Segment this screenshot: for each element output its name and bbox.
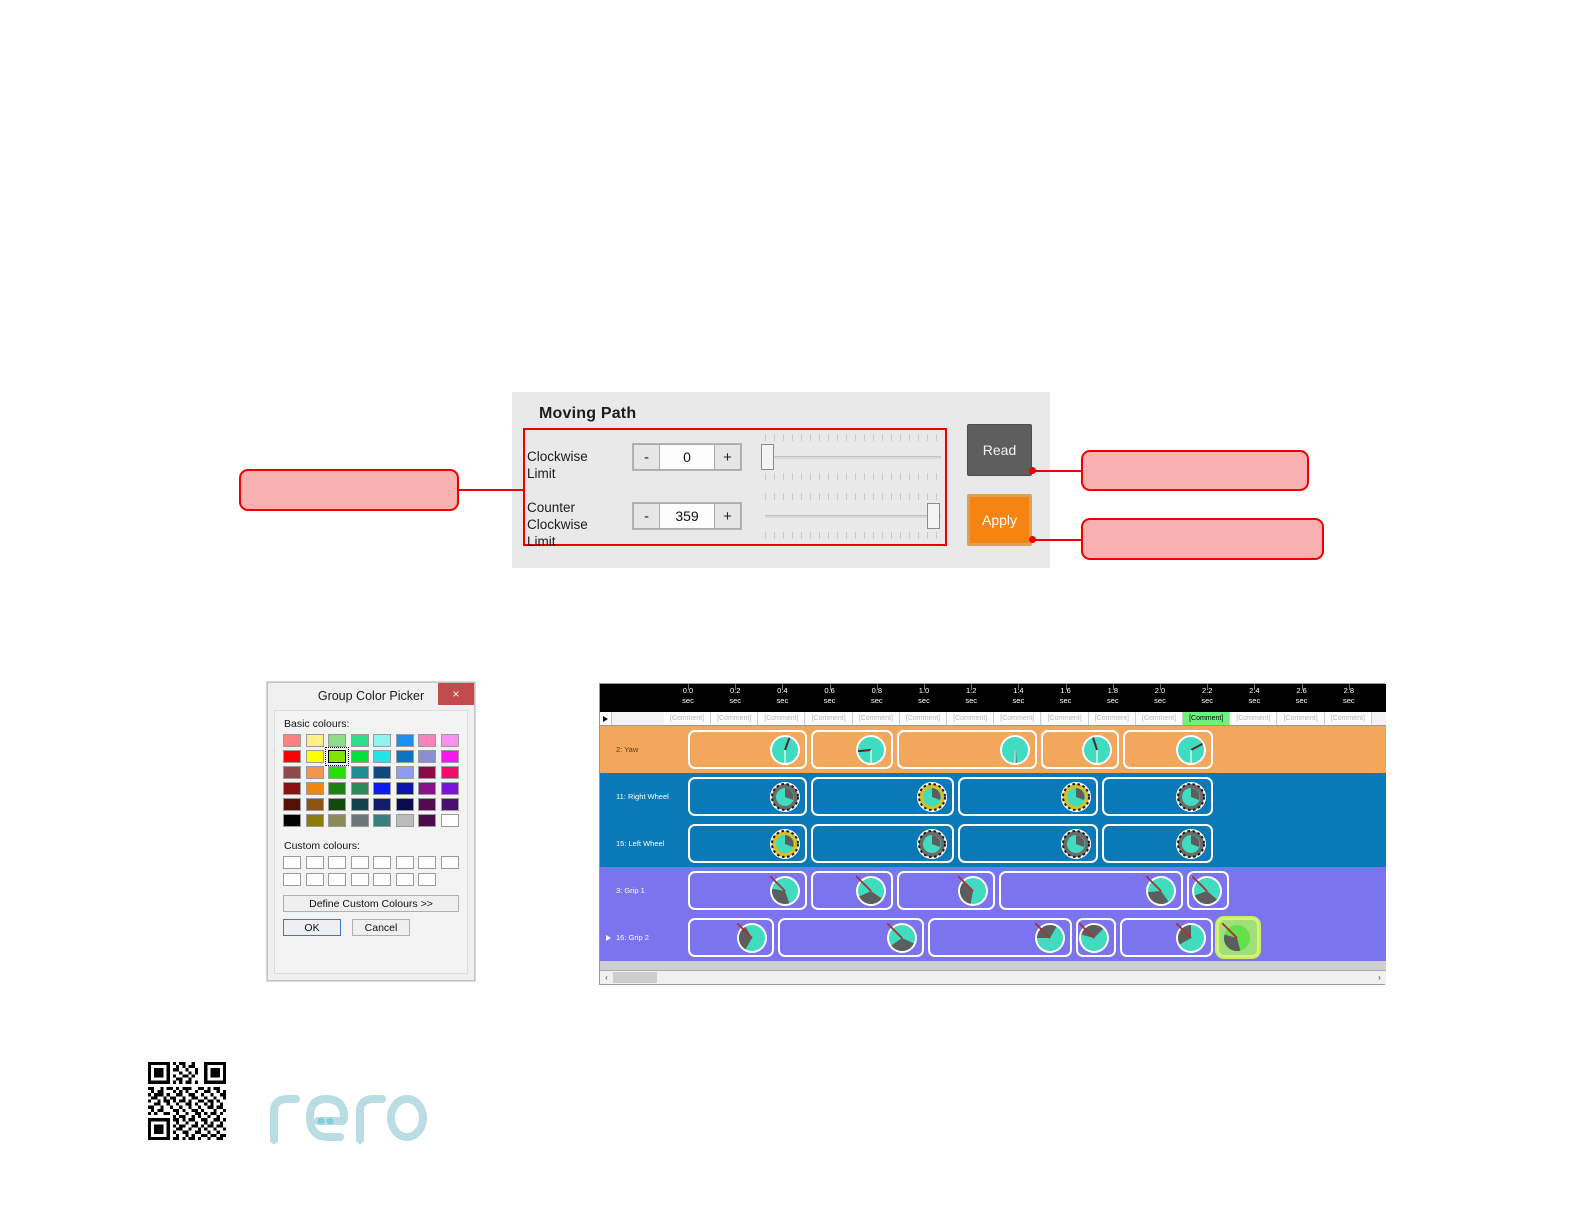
basic-colour-swatch[interactable]: [418, 782, 436, 795]
timeline-clip[interactable]: [778, 918, 924, 957]
timeline-clip[interactable]: [1102, 824, 1213, 863]
page-title: Moving Path: [539, 405, 636, 423]
comment-cell[interactable]: [Comment]: [806, 712, 853, 725]
basic-colour-swatch[interactable]: [283, 798, 301, 811]
tick-unit: sec: [806, 696, 854, 706]
ruler-tick-label: 0.6sec: [806, 686, 854, 706]
comment-cell[interactable]: [Comment]: [994, 712, 1041, 725]
basic-colour-swatch[interactable]: [283, 782, 301, 795]
tick-value: 0.0: [683, 686, 693, 695]
keyframe-dial-icon[interactable]: [1146, 876, 1176, 906]
keyframe-dial-icon[interactable]: [770, 829, 800, 859]
tick-value: 0.4: [777, 686, 787, 695]
timeline-clip[interactable]: [958, 777, 1098, 816]
comment-cell[interactable]: [Comment]: [947, 712, 994, 725]
basic-colour-swatch[interactable]: [351, 734, 369, 747]
ruler-tick-label: 0.2sec: [711, 686, 759, 706]
comment-cell[interactable]: [Comment]: [1183, 712, 1230, 725]
basic-colour-swatch[interactable]: [396, 782, 414, 795]
clockwise-limit-label: Clockwise Limit: [527, 448, 588, 482]
timeline-clip[interactable]: [897, 871, 995, 910]
custom-colour-swatch[interactable]: [418, 873, 436, 886]
callout-read-anchor: [1029, 467, 1036, 474]
ruler-tick-label: 0.0sec: [664, 686, 712, 706]
counter-clockwise-limit-increment-button[interactable]: +: [714, 503, 741, 529]
ruler-tick-label: 2.2sec: [1183, 686, 1231, 706]
counter-clockwise-limit-label-line1: Counter: [527, 499, 575, 516]
timeline-editor[interactable]: 0.0sec0.2sec0.4sec0.6sec0.8sec1.0sec1.2s…: [599, 683, 1385, 985]
tick-unit: sec: [711, 696, 759, 706]
timeline-clip[interactable]: [811, 777, 954, 816]
callout-apply-leader: [1032, 539, 1082, 541]
track-label[interactable]: 2: Yaw: [600, 726, 688, 773]
basic-colour-swatch[interactable]: [396, 750, 414, 763]
custom-colours-label: Custom colours:: [284, 840, 459, 852]
custom-colour-swatch[interactable]: [396, 873, 414, 886]
keyframe-dial-icon[interactable]: [1176, 735, 1206, 765]
track-lane[interactable]: [688, 867, 1386, 914]
timeline-clip[interactable]: [688, 777, 807, 816]
timeline-clip[interactable]: [688, 918, 774, 957]
tick-value: 1.0: [919, 686, 929, 695]
timeline-track[interactable]: 11: Right Wheel: [600, 773, 1386, 820]
keyframe-dial-icon[interactable]: [770, 876, 800, 906]
tick-unit: sec: [664, 696, 712, 706]
basic-colour-swatch[interactable]: [328, 814, 346, 827]
dialog-body: Basic colours: Custom colours: Define Cu…: [274, 710, 468, 974]
timeline-clip[interactable]: [688, 730, 807, 769]
basic-colour-swatch[interactable]: [373, 750, 391, 763]
keyframe-dial-icon[interactable]: [1176, 923, 1206, 953]
dialog-button-bar: OK Cancel: [283, 919, 459, 936]
tick-unit: sec: [1325, 696, 1373, 706]
track-label[interactable]: 11: Right Wheel: [600, 773, 688, 820]
timeline-clip[interactable]: [811, 871, 893, 910]
basic-colour-swatch[interactable]: [373, 766, 391, 779]
tick-value: 2.0: [1155, 686, 1165, 695]
basic-colours-label: Basic colours:: [284, 718, 459, 730]
custom-colour-swatch[interactable]: [396, 856, 414, 869]
timeline-clip[interactable]: [1187, 871, 1229, 910]
timeline-track[interactable]: 2: Yaw: [600, 726, 1386, 773]
basic-colour-swatch[interactable]: [283, 766, 301, 779]
tick-unit: sec: [1183, 696, 1231, 706]
basic-colour-swatch[interactable]: [328, 750, 346, 763]
dialog-title: Group Color Picker: [318, 689, 424, 703]
counter-clockwise-limit-decrement-button[interactable]: -: [633, 503, 660, 529]
tick-unit: sec: [947, 696, 995, 706]
timeline-track[interactable]: 16: Grip 2: [600, 914, 1386, 961]
basic-colour-swatch[interactable]: [418, 766, 436, 779]
timeline-clip[interactable]: [1076, 918, 1116, 957]
custom-colour-swatch[interactable]: [306, 873, 324, 886]
slider-ticks-bottom: [765, 532, 941, 539]
basic-colour-swatch[interactable]: [306, 766, 324, 779]
basic-colours-grid[interactable]: [283, 734, 459, 827]
slider-ticks-top: [765, 493, 941, 500]
comment-cell[interactable]: [Comment]: [900, 712, 947, 725]
slider-track: [765, 515, 941, 518]
custom-colour-swatch[interactable]: [373, 856, 391, 869]
basic-colour-swatch[interactable]: [351, 782, 369, 795]
slider-ticks-top: [765, 434, 941, 441]
basic-colour-swatch[interactable]: [328, 782, 346, 795]
tick-unit: sec: [1278, 696, 1326, 706]
keyframe-dial-icon[interactable]: [1061, 829, 1091, 859]
track-label[interactable]: 15: Left Wheel: [600, 820, 688, 867]
timeline-tracks-area[interactable]: 2: Yaw11: Right Wheel15: Left Wheel3: Gr…: [600, 726, 1386, 971]
basic-colour-swatch[interactable]: [351, 798, 369, 811]
tick-unit: sec: [1230, 696, 1278, 706]
timeline-horizontal-scrollbar[interactable]: ‹ ›: [600, 970, 1386, 984]
ruler-tick-label: 2.6sec: [1278, 686, 1326, 706]
basic-colour-swatch[interactable]: [441, 814, 459, 827]
qr-code: [148, 1062, 226, 1140]
counter-clockwise-limit-label-line2: Clockwise Limit: [527, 516, 588, 550]
custom-colour-swatch[interactable]: [418, 856, 436, 869]
tick-value: 1.4: [1013, 686, 1023, 695]
ruler-tick-label: 0.4sec: [758, 686, 806, 706]
tick-unit: sec: [853, 696, 901, 706]
custom-colour-swatch[interactable]: [283, 856, 301, 869]
basic-colour-swatch[interactable]: [351, 750, 369, 763]
basic-colour-swatch[interactable]: [373, 782, 391, 795]
callout-limits: [239, 469, 459, 511]
clockwise-limit-spinner[interactable]: - 0 +: [632, 443, 742, 471]
keyframe-dial-icon[interactable]: [856, 735, 886, 765]
keyframe-dial-icon[interactable]: [1176, 782, 1206, 812]
timeline-clip[interactable]: [811, 730, 893, 769]
basic-colour-swatch[interactable]: [441, 782, 459, 795]
track-label[interactable]: 3: Grip 1: [600, 867, 688, 914]
ruler-tick-label: 2.0sec: [1136, 686, 1184, 706]
slider-thumb[interactable]: [761, 444, 774, 470]
basic-colour-swatch[interactable]: [441, 766, 459, 779]
custom-colour-swatch[interactable]: [283, 873, 301, 886]
slider-ticks-bottom: [765, 473, 941, 480]
basic-colour-swatch[interactable]: [396, 798, 414, 811]
tick-value: 1.8: [1108, 686, 1118, 695]
comment-cell[interactable]: [Comment]: [1042, 712, 1089, 725]
timeline-track[interactable]: 15: Left Wheel: [600, 820, 1386, 867]
basic-colour-swatch[interactable]: [306, 798, 324, 811]
tick-value: 2.6: [1296, 686, 1306, 695]
keyframe-dial-icon[interactable]: [958, 876, 988, 906]
basic-colour-swatch[interactable]: [328, 766, 346, 779]
track-lane[interactable]: [688, 773, 1386, 820]
apply-button[interactable]: Apply: [967, 494, 1032, 546]
keyframe-dial-icon[interactable]: [737, 923, 767, 953]
comment-cell[interactable]: [Comment]: [1089, 712, 1136, 725]
timeline-clip[interactable]: [999, 871, 1183, 910]
basic-colour-swatch[interactable]: [396, 766, 414, 779]
keyframe-dial-icon[interactable]: [1000, 735, 1030, 765]
basic-colour-swatch[interactable]: [441, 798, 459, 811]
ruler-tick-label: 1.2sec: [947, 686, 995, 706]
track-lane[interactable]: [688, 726, 1386, 773]
tick-unit: sec: [1136, 696, 1184, 706]
callout-apply-anchor: [1029, 536, 1036, 543]
clockwise-limit-increment-button[interactable]: +: [714, 444, 741, 470]
timeline-clip[interactable]: [897, 730, 1037, 769]
keyframe-dial-icon[interactable]: [770, 735, 800, 765]
comment-cell[interactable]: [Comment]: [664, 712, 711, 725]
keyframe-dial-icon[interactable]: [917, 829, 947, 859]
keyframe-dial-icon[interactable]: [1079, 923, 1109, 953]
basic-colour-swatch[interactable]: [328, 734, 346, 747]
scroll-right-icon[interactable]: ›: [1373, 971, 1386, 984]
keyframe-dial-icon[interactable]: [1176, 829, 1206, 859]
basic-colour-swatch[interactable]: [373, 798, 391, 811]
clockwise-limit-value[interactable]: 0: [660, 444, 714, 470]
custom-colour-swatch[interactable]: [351, 873, 369, 886]
define-custom-colours-button[interactable]: Define Custom Colours >>: [283, 895, 459, 912]
tick-value: 0.8: [872, 686, 882, 695]
ruler-tick-label: 1.4sec: [994, 686, 1042, 706]
timeline-ruler[interactable]: 0.0sec0.2sec0.4sec0.6sec0.8sec1.0sec1.2s…: [600, 684, 1386, 712]
custom-colour-swatch[interactable]: [328, 873, 346, 886]
basic-colour-swatch[interactable]: [418, 750, 436, 763]
scrollbar-thumb[interactable]: [613, 972, 657, 983]
basic-colour-swatch[interactable]: [396, 734, 414, 747]
callout-limits-leader: [459, 489, 525, 491]
tick-value: 0.6: [824, 686, 834, 695]
ruler-tick-label: 1.0sec: [900, 686, 948, 706]
comment-cell[interactable]: [Comment]: [1278, 712, 1325, 725]
basic-colour-swatch[interactable]: [306, 750, 324, 763]
tick-value: 2.8: [1344, 686, 1354, 695]
timeline-clip[interactable]: [1123, 730, 1213, 769]
ruler-tick-label: 2.4sec: [1230, 686, 1278, 706]
custom-colour-swatch[interactable]: [351, 856, 369, 869]
keyframe-dial-icon[interactable]: [1222, 923, 1252, 953]
basic-colour-swatch[interactable]: [396, 814, 414, 827]
group-color-picker-dialog: Group Color Picker × Basic colours: Cust…: [267, 682, 475, 981]
keyframe-dial-icon[interactable]: [887, 923, 917, 953]
keyframe-dial-icon[interactable]: [1082, 735, 1112, 765]
timeline-clip[interactable]: [958, 824, 1098, 863]
basic-colour-swatch[interactable]: [306, 734, 324, 747]
slider-thumb[interactable]: [927, 503, 940, 529]
comment-cell[interactable]: [Comment]: [853, 712, 900, 725]
basic-colour-swatch[interactable]: [283, 814, 301, 827]
basic-colour-swatch[interactable]: [418, 734, 436, 747]
tick-unit: sec: [1042, 696, 1090, 706]
track-expander-icon[interactable]: [606, 935, 611, 941]
timeline-clip-selected[interactable]: [1217, 918, 1259, 957]
keyframe-dial-icon[interactable]: [1061, 782, 1091, 812]
tick-unit: sec: [1089, 696, 1137, 706]
tick-value: 2.4: [1249, 686, 1259, 695]
rero-logo: [264, 1085, 429, 1147]
tick-unit: sec: [758, 696, 806, 706]
ruler-tick-label: 2.8sec: [1325, 686, 1373, 706]
keyframe-dial-icon[interactable]: [770, 782, 800, 812]
ruler-tick-label: 1.6sec: [1042, 686, 1090, 706]
track-label[interactable]: 16: Grip 2: [600, 914, 688, 961]
keyframe-dial-icon[interactable]: [1035, 923, 1065, 953]
comment-cell[interactable]: [Comment]: [1230, 712, 1277, 725]
tick-value: 0.2: [730, 686, 740, 695]
keyframe-dial-icon[interactable]: [1192, 876, 1222, 906]
custom-colour-swatch[interactable]: [328, 856, 346, 869]
basic-colour-swatch[interactable]: [373, 734, 391, 747]
counter-clockwise-limit-slider[interactable]: [759, 493, 943, 539]
basic-colour-swatch[interactable]: [306, 782, 324, 795]
comment-cell[interactable]: [Comment]: [758, 712, 805, 725]
timeline-clip[interactable]: [928, 918, 1072, 957]
read-button[interactable]: Read: [967, 424, 1032, 476]
timeline-clip[interactable]: [1041, 730, 1119, 769]
tick-value: 1.2: [966, 686, 976, 695]
tick-unit: sec: [994, 696, 1042, 706]
track-lane[interactable]: [688, 820, 1386, 867]
cancel-button[interactable]: Cancel: [352, 919, 410, 936]
basic-colour-swatch[interactable]: [418, 798, 436, 811]
counter-clockwise-limit-spinner[interactable]: - 359 +: [632, 502, 742, 530]
chevron-right-icon: [603, 716, 608, 722]
comment-cell[interactable]: [Comment]: [1136, 712, 1183, 725]
timeline-track[interactable]: 3: Grip 1: [600, 867, 1386, 914]
basic-colour-swatch[interactable]: [373, 814, 391, 827]
clockwise-limit-slider[interactable]: [759, 434, 943, 480]
timeline-clip[interactable]: [688, 824, 807, 863]
comment-row[interactable]: [Comment][Comment][Comment][Comment][Com…: [600, 712, 1386, 726]
tick-value: 1.6: [1060, 686, 1070, 695]
tick-value: 2.2: [1202, 686, 1212, 695]
ruler-tick-label: 1.8sec: [1089, 686, 1137, 706]
callout-read-leader: [1032, 470, 1082, 472]
basic-colour-swatch[interactable]: [351, 766, 369, 779]
timeline-clip[interactable]: [1102, 777, 1213, 816]
basic-colour-swatch[interactable]: [351, 814, 369, 827]
timeline-clip[interactable]: [1120, 918, 1213, 957]
custom-colour-swatch[interactable]: [373, 873, 391, 886]
track-lane[interactable]: [688, 914, 1386, 961]
callout-read: [1081, 450, 1309, 491]
timeline-clip[interactable]: [688, 871, 807, 910]
basic-colour-swatch[interactable]: [283, 750, 301, 763]
counter-clockwise-limit-value[interactable]: 359: [660, 503, 714, 529]
comment-expander-icon[interactable]: [600, 712, 612, 725]
ruler-tick-label: 0.8sec: [853, 686, 901, 706]
comment-cell[interactable]: [Comment]: [711, 712, 758, 725]
basic-colour-swatch[interactable]: [283, 734, 301, 747]
keyframe-dial-icon[interactable]: [856, 876, 886, 906]
close-icon[interactable]: ×: [438, 683, 474, 705]
dialog-titlebar: Group Color Picker ×: [268, 683, 474, 708]
ok-button[interactable]: OK: [283, 919, 341, 936]
scroll-left-icon[interactable]: ‹: [600, 971, 613, 984]
custom-colour-swatch[interactable]: [306, 856, 324, 869]
basic-colour-swatch[interactable]: [441, 734, 459, 747]
clockwise-limit-decrement-button[interactable]: -: [633, 444, 660, 470]
keyframe-dial-icon[interactable]: [917, 782, 947, 812]
basic-colour-swatch[interactable]: [418, 814, 436, 827]
basic-colour-swatch[interactable]: [306, 814, 324, 827]
timeline-clip[interactable]: [811, 824, 954, 863]
custom-colour-swatch[interactable]: [441, 856, 459, 869]
custom-colours-grid[interactable]: [283, 856, 459, 886]
callout-apply: [1081, 518, 1324, 560]
basic-colour-swatch[interactable]: [328, 798, 346, 811]
tick-unit: sec: [900, 696, 948, 706]
comment-cell[interactable]: [Comment]: [1325, 712, 1372, 725]
basic-colour-swatch[interactable]: [441, 750, 459, 763]
slider-track: [765, 456, 941, 459]
